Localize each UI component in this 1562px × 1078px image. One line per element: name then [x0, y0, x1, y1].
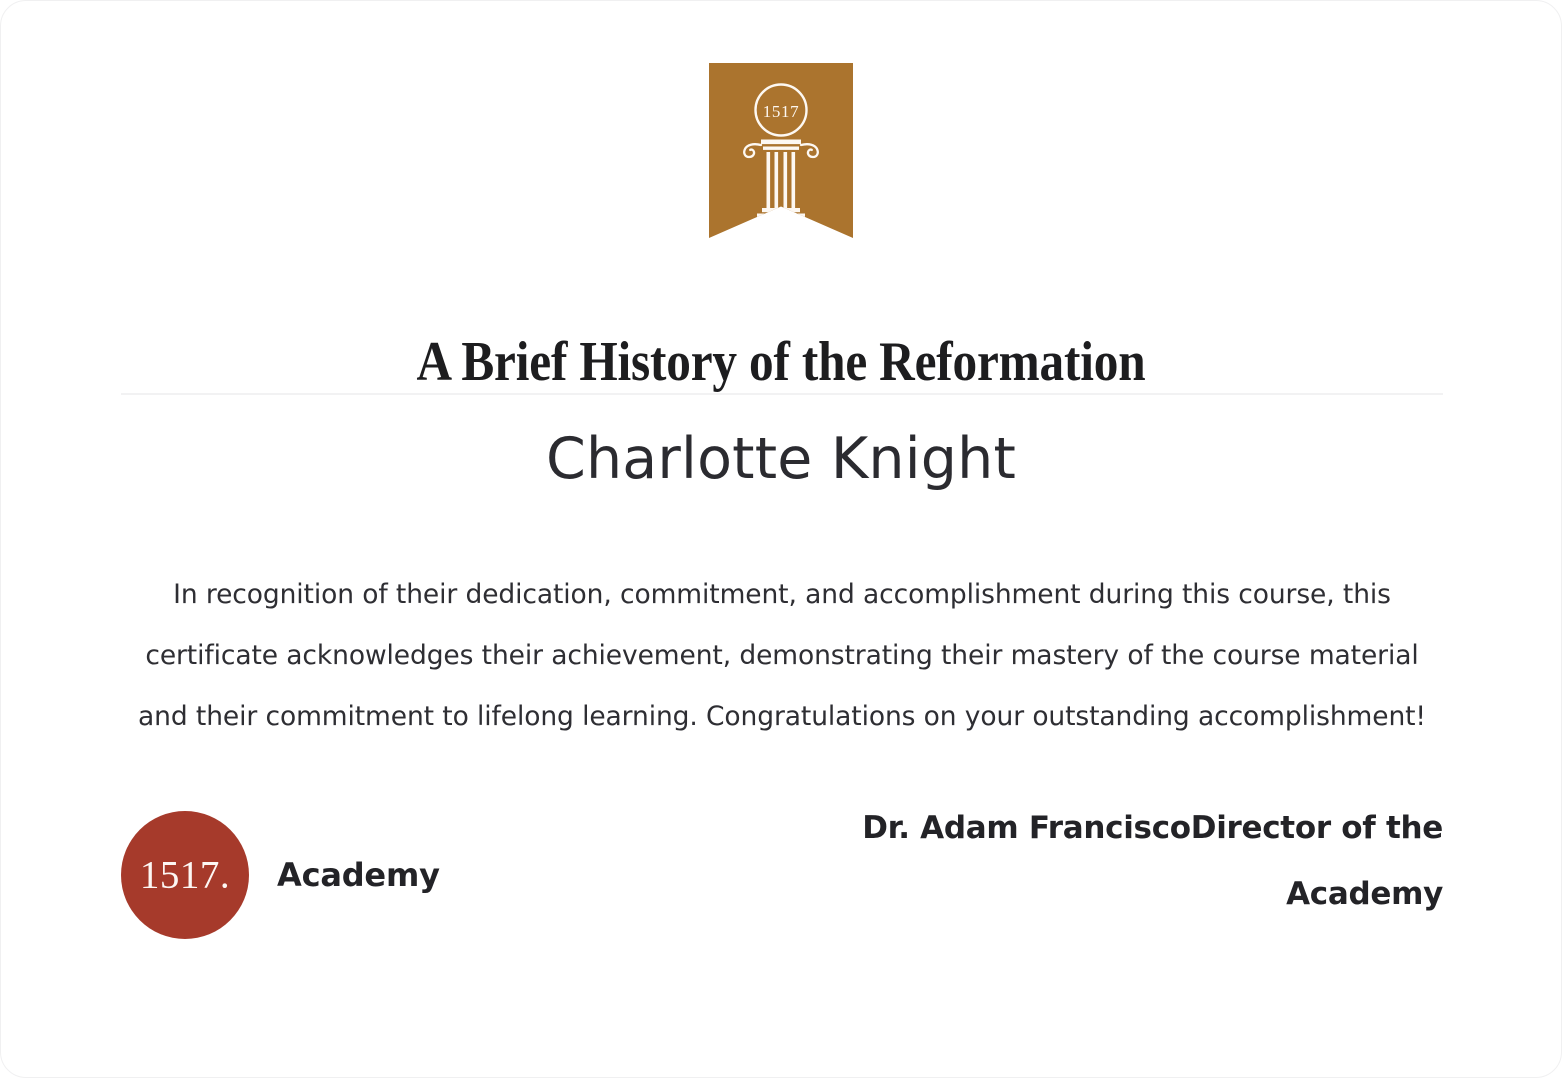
seal-year-label: 1517. — [140, 853, 230, 898]
recipient-name: Charlotte Knight — [1, 426, 1561, 492]
svg-text:ACADEMY: ACADEMY — [743, 221, 820, 236]
certificate-footer: 1517. Academy Dr. Adam FranciscoDirector… — [121, 791, 1443, 939]
course-title: A Brief History of the Reformation — [95, 331, 1468, 394]
svg-text:1517: 1517 — [763, 102, 799, 121]
issuer-name-label: Academy — [277, 856, 440, 894]
crest-container: 1517 ACADEMY — [1, 63, 1561, 238]
certificate-card: 1517 ACADEMY A Brief Hi — [0, 0, 1562, 1078]
recognition-body-text: In recognition of their dedication, comm… — [121, 564, 1443, 747]
round-seal-badge-icon: 1517. — [121, 811, 249, 939]
academy-banner: 1517 ACADEMY — [709, 63, 853, 238]
signatory-block: Dr. Adam FranciscoDirector of the Academ… — [803, 791, 1443, 927]
ionic-column-crest-icon: 1517 ACADEMY — [709, 63, 853, 238]
title-divider — [121, 393, 1443, 395]
issuer-block: 1517. Academy — [121, 791, 440, 939]
